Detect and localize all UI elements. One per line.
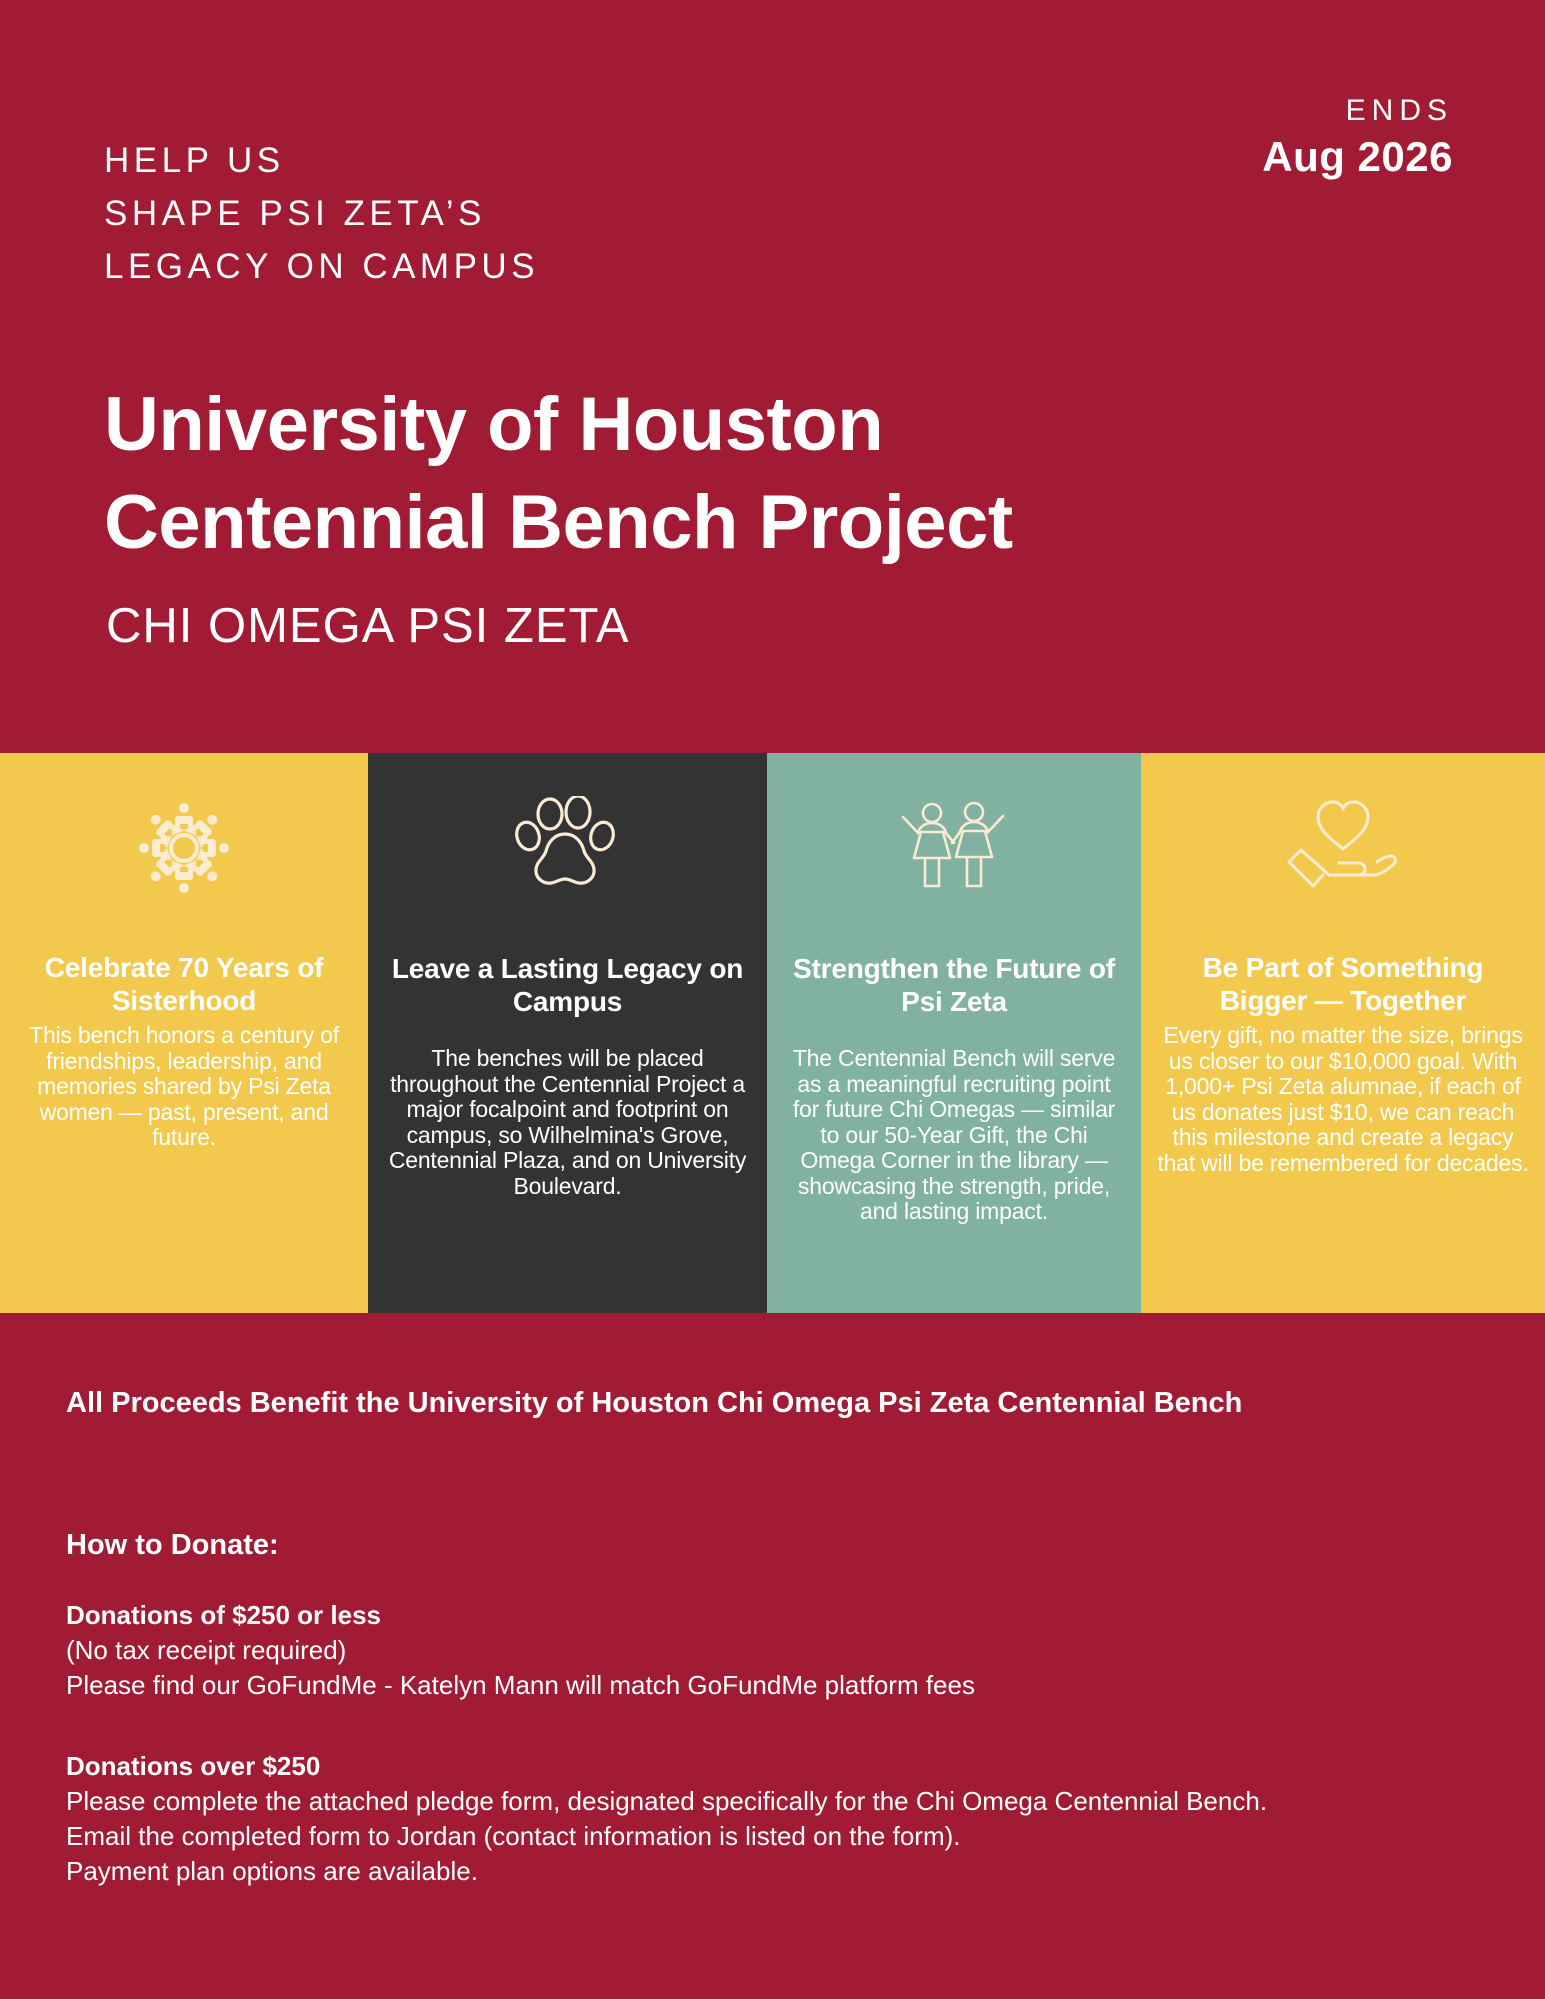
ends-label: ENDS <box>1262 94 1453 128</box>
value-prop-body: The benches will be placed throughout th… <box>384 1046 751 1199</box>
ends-date: Aug 2026 <box>1262 132 1453 182</box>
value-prop-body: This bench honors a century of friendshi… <box>16 1023 352 1151</box>
donation-tier-large-heading: Donations over $250 <box>66 1749 1416 1784</box>
value-prop-body: The Centennial Bench will serve as a mea… <box>783 1046 1125 1225</box>
value-prop-heading: Be Part of Something Bigger — Together <box>1157 951 1529 1017</box>
how-to-donate-heading: How to Donate: <box>66 1526 279 1565</box>
donation-tier-large: Donations over $250 Please complete the … <box>66 1749 1416 1889</box>
poster-canvas: HELP US SHAPE PSI ZETA’S LEGACY ON CAMPU… <box>0 0 1545 1999</box>
value-prop-card-2: Leave a Lasting Legacy on Campus The ben… <box>368 753 767 1313</box>
header-section: HELP US SHAPE PSI ZETA’S LEGACY ON CAMPU… <box>0 0 1545 753</box>
value-prop-card-3: Strengthen the Future of Psi Zeta The Ce… <box>767 753 1141 1313</box>
value-prop-body: Every gift, no matter the size, brings u… <box>1157 1023 1529 1176</box>
value-prop-card-1: Celebrate 70 Years of Sisterhood This be… <box>0 753 368 1313</box>
page-title: University of Houston Centennial Bench P… <box>104 376 1404 572</box>
value-prop-heading: Strengthen the Future of Psi Zeta <box>783 952 1125 1018</box>
hand-holding-heart-icon <box>1271 796 1415 900</box>
value-prop-card-4: Be Part of Something Bigger — Together E… <box>1141 753 1545 1313</box>
two-figures-holding-hands-icon <box>894 796 1014 900</box>
donation-tier-large-line-3: Payment plan options are available. <box>66 1854 1416 1889</box>
donation-tier-large-line-2: Email the completed form to Jordan (cont… <box>66 1819 1416 1854</box>
campaign-end-block: ENDS Aug 2026 <box>1262 94 1453 182</box>
footer-section: All Proceeds Benefit the University of H… <box>0 1313 1545 1999</box>
value-prop-heading: Leave a Lasting Legacy on Campus <box>384 952 751 1018</box>
proceeds-statement: All Proceeds Benefit the University of H… <box>66 1384 1306 1423</box>
value-props-band: Celebrate 70 Years of Sisterhood This be… <box>0 753 1545 1313</box>
donation-tier-small-line-1: (No tax receipt required) <box>66 1633 1366 1668</box>
donation-tier-small-heading: Donations of $250 or less <box>66 1598 1366 1633</box>
kicker-text: HELP US SHAPE PSI ZETA’S LEGACY ON CAMPU… <box>104 134 539 293</box>
donation-tier-large-line-1: Please complete the attached pledge form… <box>66 1784 1416 1819</box>
paw-print-icon <box>512 796 624 900</box>
donation-tier-small: Donations of $250 or less (No tax receip… <box>66 1598 1366 1703</box>
page-subtitle: CHI OMEGA PSI ZETA <box>106 597 630 655</box>
donation-tier-small-line-2: Please find our GoFundMe - Katelyn Mann … <box>66 1668 1366 1703</box>
value-prop-heading: Celebrate 70 Years of Sisterhood <box>16 951 352 1017</box>
sisterhood-circle-icon <box>132 796 236 900</box>
